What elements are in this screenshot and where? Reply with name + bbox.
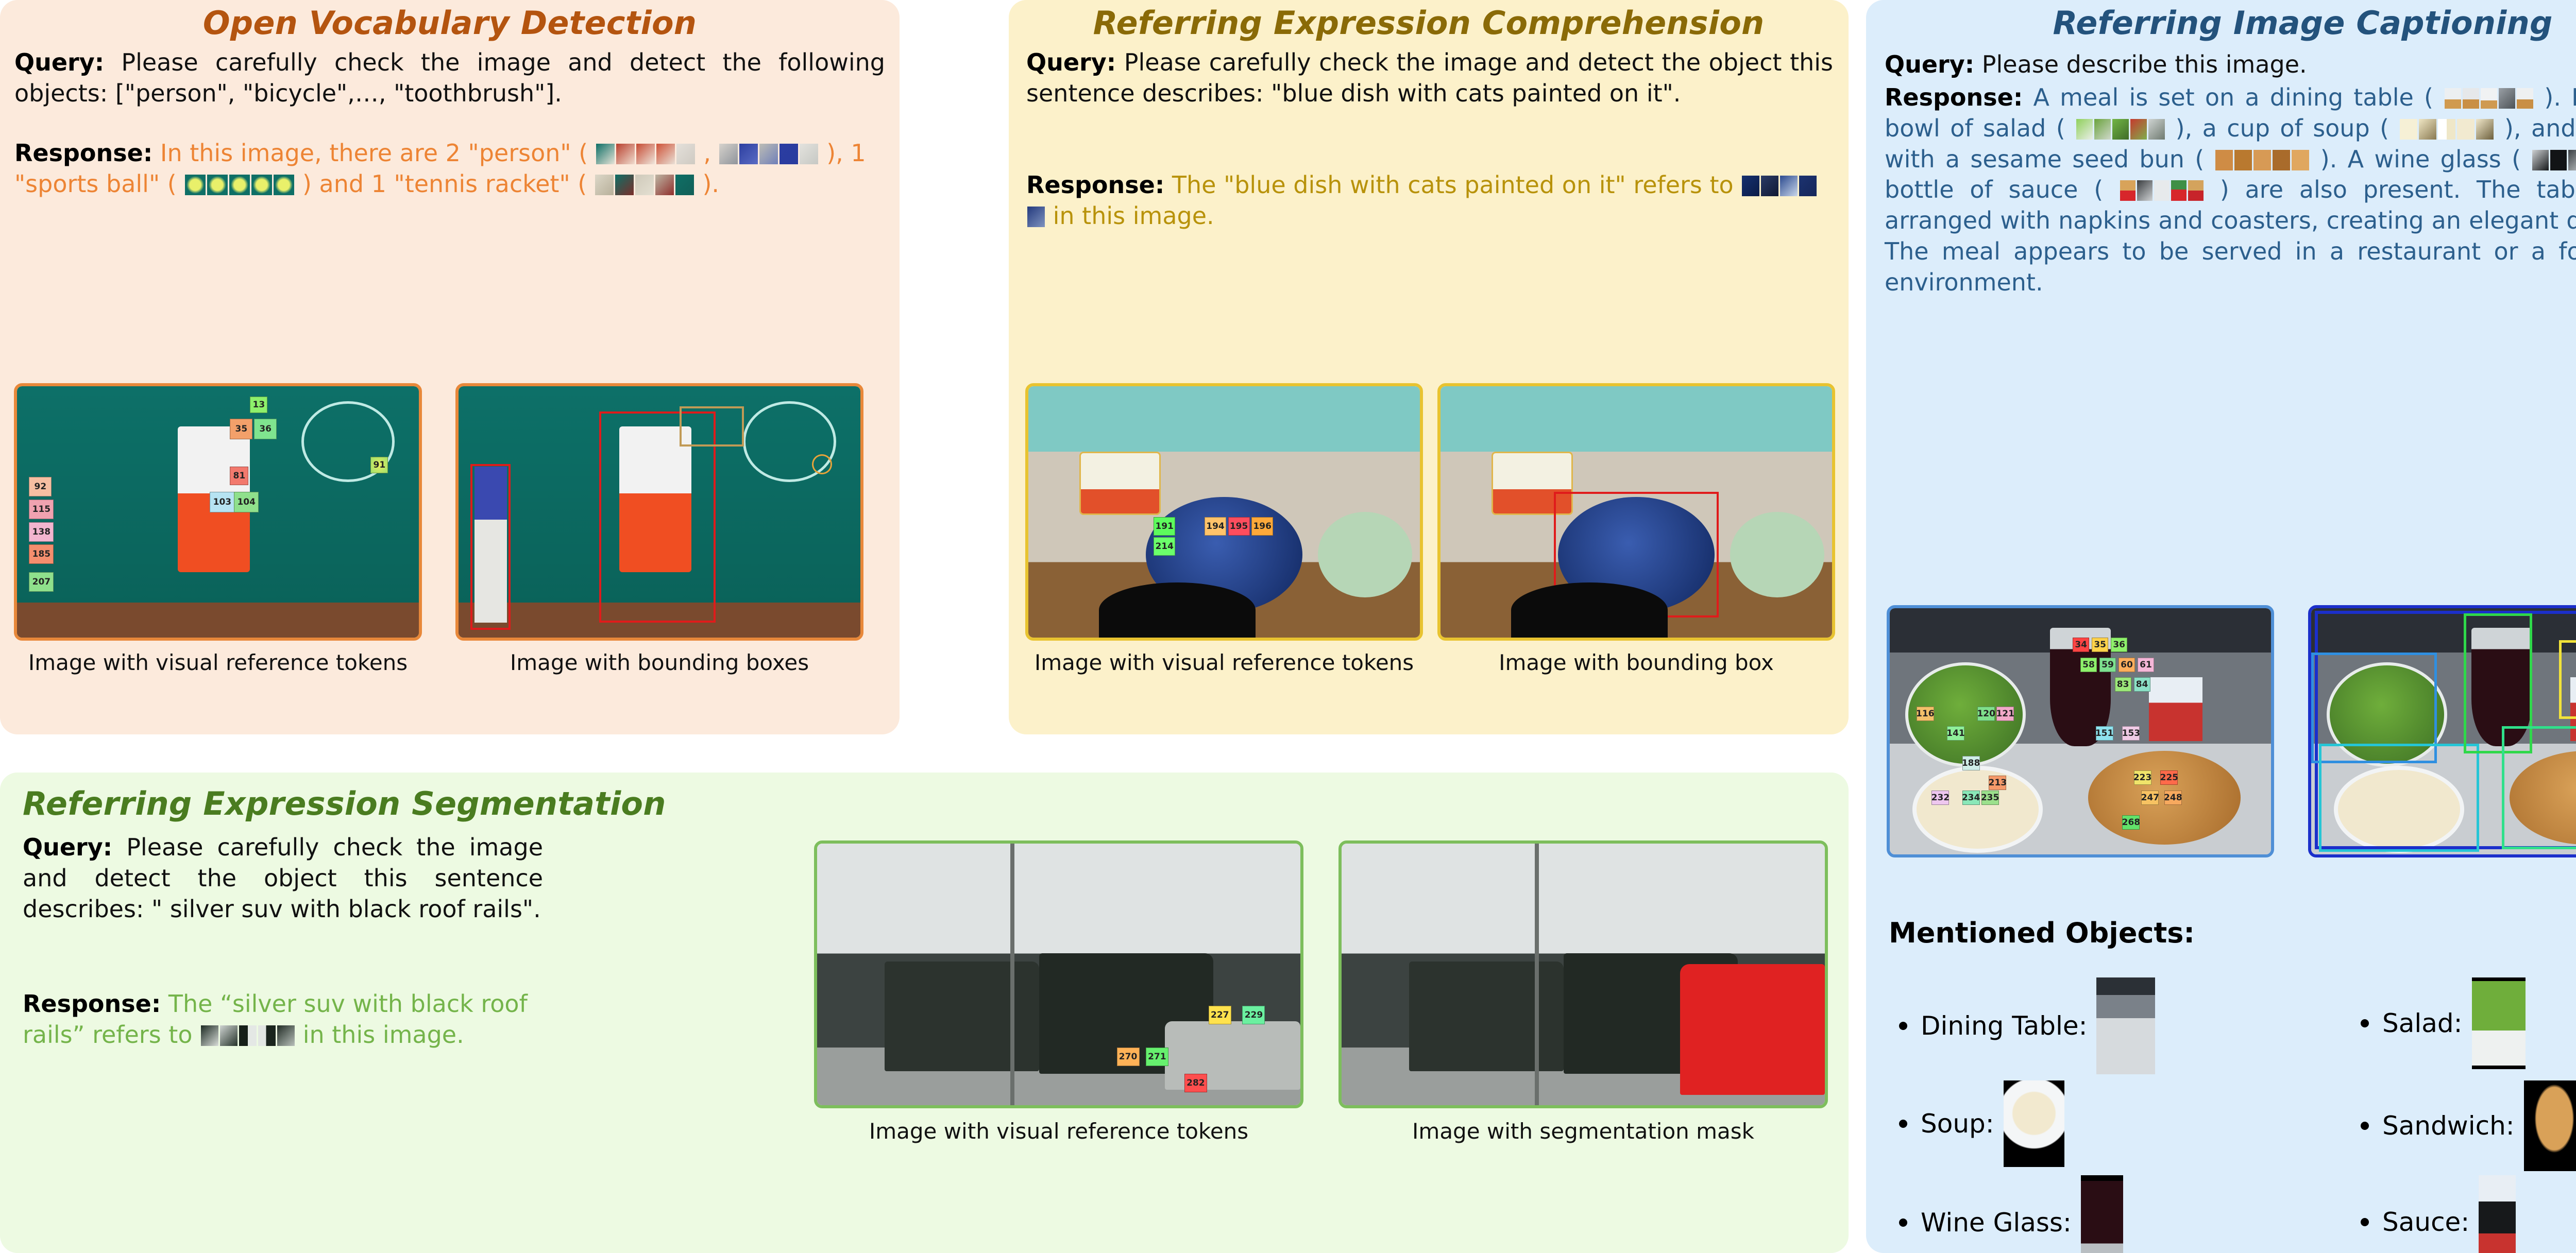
token-strip-person-2 — [719, 139, 819, 167]
mentioned-object-salad: Salad: — [2361, 977, 2526, 1069]
panel-open-vocabulary-detection: Open Vocabulary Detection Query: Please … — [0, 0, 900, 734]
ovd-image-bounding-boxes — [455, 383, 863, 641]
panel-title-referring-expression-segmentation: Referring Expression Segmentation — [23, 785, 666, 822]
vtoken-84: 84 — [2134, 677, 2150, 692]
thumb-salad — [2472, 977, 2526, 1069]
token-strip-sauce — [2119, 176, 2204, 203]
segmentation-mask-suv — [1680, 964, 1825, 1095]
street-pole — [1010, 844, 1014, 1105]
mentioned-object-soup: Soup: — [1899, 1080, 2064, 1167]
vtoken-36b: 36 — [2111, 638, 2127, 652]
vtoken-83: 83 — [2115, 677, 2131, 692]
token-strip-wine-glass — [2531, 145, 2576, 173]
thumb-soup — [2004, 1080, 2064, 1167]
res-response-block: Response: The “silver suv with black roo… — [23, 989, 569, 1051]
vtoken-195: 195 — [1228, 517, 1250, 536]
ric-image-bounding-boxes — [2308, 605, 2576, 857]
bbox-soup — [2319, 744, 2479, 852]
vtoken-188: 188 — [1962, 756, 1980, 770]
vtoken-235: 235 — [1981, 791, 1999, 805]
mentioned-object-wine-glass: Wine Glass: — [1899, 1175, 2123, 1253]
cat-silhouette — [1099, 582, 1256, 638]
vtoken-121: 121 — [1996, 707, 2014, 721]
bbox-sandwich — [2502, 726, 2576, 849]
vtoken-141: 141 — [1947, 726, 1964, 741]
ric-response-part-4: ). A wine glass ( — [2320, 145, 2532, 173]
vtoken-153: 153 — [2122, 726, 2140, 741]
rec-response-lead: Response: — [1026, 171, 1164, 199]
mentioned-object-sauce: Sauce: — [2361, 1175, 2516, 1253]
vtoken-223: 223 — [2134, 770, 2151, 785]
vtoken-138: 138 — [29, 522, 54, 542]
res-query-lead: Query: — [23, 833, 112, 861]
mentioned-object-sandwich: Sandwich: — [2361, 1080, 2576, 1171]
vtoken-151: 151 — [2096, 726, 2113, 741]
rec-query-block: Query: Please carefully check the image … — [1026, 47, 1833, 109]
vtoken-234: 234 — [1962, 791, 1980, 805]
mentioned-object-label: Salad: — [2382, 1008, 2463, 1038]
token-strip-dining-table — [2444, 83, 2534, 111]
vtoken-185: 185 — [29, 544, 54, 564]
vtoken-35b: 35 — [2092, 638, 2108, 652]
vtoken-104: 104 — [234, 492, 259, 512]
ric-query-text: Please describe this image. — [1974, 50, 2307, 78]
ovd-query-text: Please carefully check the image and det… — [14, 48, 885, 107]
rec-image-bounding-box — [1437, 383, 1835, 641]
panel-referring-expression-segmentation: Referring Expression Segmentation Query:… — [0, 773, 1849, 1253]
vtoken-232: 232 — [1931, 791, 1949, 805]
ovd-response-part-3: ) and 1 "tennis racket" ( — [302, 170, 595, 198]
ric-response-block: Response: A meal is set on a dining tabl… — [1885, 82, 2576, 298]
ovd-query-block: Query: Please carefully check the image … — [14, 47, 885, 109]
vtoken-60: 60 — [2119, 658, 2135, 672]
vtoken-196: 196 — [1251, 517, 1273, 536]
vtoken-116: 116 — [1917, 707, 1934, 721]
ovd-response-part-4: ). — [702, 170, 719, 198]
rec-query-text: Please carefully check the image and det… — [1026, 48, 1833, 107]
res-query-block: Query: Please carefully check the image … — [23, 832, 543, 924]
thumb-dining-table — [2096, 977, 2155, 1074]
bullet-icon — [1899, 1218, 1907, 1227]
vtoken-61: 61 — [2138, 658, 2154, 672]
token-strip-sandwich — [2214, 145, 2310, 173]
bullet-icon — [2361, 1122, 2369, 1130]
panel-title-referring-image-captioning: Referring Image Captioning — [1866, 4, 2576, 42]
res-caption-right: Image with segmentation mask — [1338, 1119, 1828, 1144]
mentioned-object-label: Dining Table: — [1921, 1011, 2087, 1041]
res-image-visual-reference-tokens: 227 229 270 271 282 — [814, 840, 1303, 1108]
vtoken-13: 13 — [250, 397, 267, 413]
vtoken-282: 282 — [1184, 1074, 1207, 1092]
thumb-sauce — [2479, 1175, 2516, 1253]
vtoken-103: 103 — [210, 492, 234, 512]
vtoken-120: 120 — [1977, 707, 1995, 721]
token-strip-sports-ball — [184, 170, 295, 198]
vtoken-214: 214 — [1154, 537, 1175, 556]
rec-response-part-1: in this image. — [1053, 202, 1214, 230]
cat-food-tray — [1079, 452, 1161, 515]
mentioned-object-dining-table: Dining Table: — [1899, 977, 2155, 1074]
res-response-lead: Response: — [23, 990, 161, 1018]
truck-1b — [1409, 962, 1564, 1071]
ovd-response-lead: Response: — [14, 139, 152, 167]
cat-silhouette-2 — [1511, 582, 1668, 638]
ovd-query-lead: Query: — [14, 48, 104, 76]
rec-image-visual-reference-tokens: 191 214 194 195 196 — [1025, 383, 1423, 641]
ovd-caption-left: Image with visual reference tokens — [14, 650, 422, 676]
bullet-icon — [2361, 1019, 2369, 1027]
soup-cup — [1912, 766, 2043, 853]
token-strip-tennis-racket — [595, 170, 695, 198]
ovd-response-block: Response: In this image, there are 2 "pe… — [14, 138, 885, 200]
sauce-bottle — [2149, 677, 2202, 741]
street-pole-2 — [1535, 844, 1539, 1105]
bullet-icon — [1899, 1022, 1907, 1030]
vtoken-191: 191 — [1154, 517, 1175, 536]
ric-query-block: Query: Please describe this image. — [1885, 49, 2576, 80]
token-strip-person-1 — [596, 139, 696, 167]
res-response-part-1: in this image. — [303, 1021, 464, 1049]
bullet-icon — [1899, 1120, 1907, 1128]
ric-response-part-0: A meal is set on a dining table ( — [2033, 83, 2444, 111]
vtoken-36: 36 — [254, 419, 277, 439]
vtoken-225: 225 — [2160, 770, 2178, 785]
ric-query-lead: Query: — [1885, 50, 1974, 78]
ovd-response-part-1: , — [703, 139, 718, 167]
res-caption-left: Image with visual reference tokens — [814, 1119, 1303, 1144]
vtoken-91: 91 — [370, 457, 388, 473]
mentioned-object-label: Soup: — [1921, 1109, 1994, 1139]
mentioned-object-label: Wine Glass: — [1921, 1208, 2072, 1238]
vtoken-194: 194 — [1205, 517, 1226, 536]
bbox-person-2 — [470, 464, 511, 630]
vtoken-58: 58 — [2080, 658, 2097, 672]
vtoken-268: 268 — [2122, 815, 2140, 830]
vtoken-213: 213 — [1989, 776, 2006, 790]
vtoken-248: 248 — [2164, 791, 2182, 805]
panel-title-open-vocabulary-detection: Open Vocabulary Detection — [0, 4, 900, 42]
panel-referring-image-captioning: Referring Image Captioning Query: Please… — [1866, 0, 2576, 1253]
green-bowl — [1318, 512, 1412, 597]
truck-1 — [885, 962, 1039, 1071]
ovd-response-part-0: In this image, there are 2 "person" ( — [160, 139, 596, 167]
bbox-sports-ball — [812, 454, 832, 474]
vtoken-81: 81 — [230, 467, 248, 485]
thumb-sandwich — [2524, 1080, 2576, 1171]
rec-caption-left: Image with visual reference tokens — [1025, 650, 1423, 676]
rec-response-block: Response: The "blue dish with cats paint… — [1026, 170, 1833, 232]
ric-response-lead: Response: — [1885, 83, 2023, 111]
ovd-caption-right: Image with bounding boxes — [455, 650, 863, 676]
green-bowl-2 — [1730, 512, 1824, 597]
vtoken-270: 270 — [1117, 1048, 1140, 1066]
vtoken-35: 35 — [230, 419, 252, 439]
token-strip-soup — [2399, 114, 2495, 142]
vtoken-227: 227 — [1209, 1006, 1231, 1024]
bbox-sauce — [2559, 640, 2576, 719]
panel-referring-expression-comprehension: Referring Expression Comprehension Query… — [1009, 0, 1849, 734]
ovd-image-visual-reference-tokens: 13 35 36 81 103 104 91 92 115 138 185 20… — [14, 383, 422, 641]
vtoken-207: 207 — [29, 572, 54, 592]
vtoken-34: 34 — [2073, 638, 2089, 652]
mentioned-object-label: Sauce: — [2382, 1207, 2469, 1237]
ric-response-part-2: ), a cup of soup ( — [2176, 114, 2399, 142]
vtoken-115: 115 — [29, 500, 54, 519]
mentioned-objects-title: Mentioned Objects: — [1889, 917, 2195, 949]
thumb-wine-glass — [2081, 1175, 2123, 1253]
token-strip-silver-suv — [200, 1021, 295, 1049]
token-strip-salad — [2075, 114, 2165, 142]
mentioned-object-label: Sandwich: — [2382, 1111, 2515, 1141]
vtoken-271: 271 — [1146, 1048, 1168, 1066]
panel-title-referring-expression-comprehension: Referring Expression Comprehension — [1009, 4, 1849, 42]
rec-query-lead: Query: — [1026, 48, 1116, 76]
rec-caption-right: Image with bounding box — [1437, 650, 1835, 676]
vtoken-92: 92 — [29, 477, 52, 496]
vtoken-247: 247 — [2141, 791, 2159, 805]
ric-image-visual-reference-tokens: 34 35 36 58 59 60 61 83 84 116 120 121 1… — [1887, 605, 2274, 857]
res-image-segmentation-mask — [1338, 840, 1828, 1108]
bbox-tennis-racket — [680, 406, 744, 447]
rec-response-part-0: The "blue dish with cats painted on it" … — [1172, 171, 1741, 199]
vtoken-59: 59 — [2099, 658, 2116, 672]
bullet-icon — [2361, 1218, 2369, 1226]
vtoken-229: 229 — [1242, 1006, 1265, 1024]
